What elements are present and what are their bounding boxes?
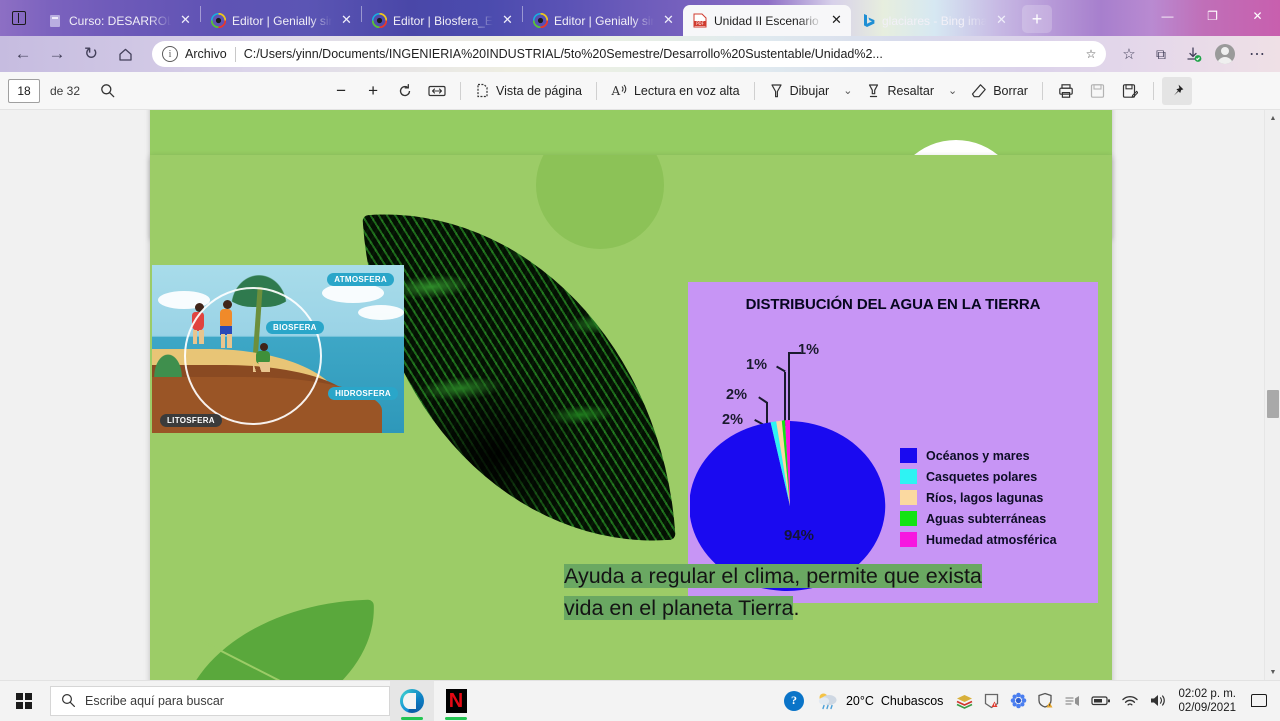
clock-time: 02:02 p. m. <box>1178 687 1236 701</box>
toolbar-divider <box>1042 82 1043 100</box>
tab-actions-menu-button[interactable] <box>0 0 38 36</box>
callout-label-rios: 2% <box>726 387 747 403</box>
fern-shading <box>362 195 675 559</box>
browser-toolbar-right: ☆ ⧉ ⋯ <box>1114 39 1272 69</box>
action-center-icon <box>1251 694 1267 707</box>
leaf-vein <box>200 640 351 680</box>
decorative-leaf-dark <box>176 600 379 680</box>
highlight-options-chevron-down-icon[interactable]: ⌄ <box>942 77 963 105</box>
volume-icon[interactable] <box>1144 681 1172 721</box>
system-tray: ? 20°C Chubascos <box>779 681 1280 721</box>
genially-icon <box>210 13 226 29</box>
label-litosfera: LITOSFERA <box>160 414 222 427</box>
tab-actions-icon <box>12 11 26 25</box>
legend-label: Ríos, lagos lagunas <box>926 491 1043 505</box>
toolbar-divider <box>596 82 597 100</box>
legend-swatch <box>900 490 917 505</box>
tab-close-button[interactable]: ✕ <box>499 12 516 29</box>
chart-title: DISTRIBUCIÓN DEL AGUA EN LA TIERRA <box>688 296 1098 313</box>
legend-swatch <box>900 511 917 526</box>
slide-body-text-line2: vida en el planeta Tierra <box>564 596 793 620</box>
site-info-icon[interactable]: i <box>162 46 178 62</box>
profile-avatar[interactable] <box>1210 39 1240 69</box>
erase-label: Borrar <box>993 84 1028 98</box>
browser-navigation-bar: ← → ↻ i Archivo C:/Users/yinn/Documents/… <box>0 36 1280 72</box>
fit-width-icon[interactable] <box>422 77 452 105</box>
avatar <box>1215 44 1235 64</box>
scroll-down-arrow-icon[interactable]: ▼ <box>1265 664 1280 680</box>
toolbar-divider <box>1153 82 1154 100</box>
pdf-page-18: ATMOSFERA BIOSFERA HIDROSFERA LITOSFERA … <box>150 155 1112 680</box>
zoom-in-button[interactable]: + <box>358 77 388 105</box>
genially-icon <box>371 13 387 29</box>
tab-close-button[interactable]: ✕ <box>338 12 355 29</box>
pdf-viewer-canvas[interactable]: 17 <box>0 110 1280 680</box>
tab-title: Editor | Genially sin <box>232 14 332 28</box>
read-aloud-button[interactable]: A Lectura en voz alta <box>605 77 746 105</box>
save-as-icon[interactable] <box>1115 77 1145 105</box>
leader-line-4a <box>788 352 801 354</box>
page-number-input[interactable]: 18 <box>8 79 40 103</box>
windows-icon <box>16 693 32 709</box>
book-icon <box>47 13 63 29</box>
downloads-icon[interactable] <box>1178 39 1208 69</box>
battery-icon[interactable] <box>1086 681 1116 721</box>
slide-body-text-line1: Ayuda a regular el clima, permite que ex… <box>564 564 982 588</box>
highlight-label: Resaltar <box>887 84 934 98</box>
save-icon[interactable] <box>1083 77 1113 105</box>
fern-photo-leaf-shape <box>362 195 675 559</box>
address-bar[interactable]: i Archivo C:/Users/yinn/Documents/INGENI… <box>152 41 1106 67</box>
browser-tab-1[interactable]: Curso: DESARROLLO ✕ <box>38 5 200 36</box>
netflix-icon: N <box>446 689 467 713</box>
pdf-toolbar: 18 de 32 − + Vista de página A Lectura e… <box>0 72 1280 110</box>
clock-date: 02/09/2021 <box>1178 701 1236 715</box>
weather-condition: Chubascos <box>881 694 944 708</box>
chart-legend: Océanos y mares Casquetes polares Ríos, … <box>900 448 1057 553</box>
taskbar-search-placeholder: Escribe aquí para buscar <box>85 694 224 708</box>
home-button[interactable] <box>110 39 140 69</box>
taskbar-clock[interactable]: 02:02 p. m. 02/09/2021 <box>1172 687 1244 715</box>
leader-line-3b <box>784 372 786 426</box>
callout-label-humedad: 1% <box>798 342 819 358</box>
browser-tab-4[interactable]: Editor | Genially sin ✕ <box>523 5 683 36</box>
callout-label-aguas: 1% <box>746 357 767 373</box>
scrollbar-thumb[interactable] <box>1267 390 1279 418</box>
browser-tab-strip: Curso: DESARROLLO ✕ Editor | Genially si… <box>0 0 1280 36</box>
cloud-shape <box>322 283 384 303</box>
viewer-scrollbar[interactable]: ▲ ▼ <box>1264 110 1280 680</box>
legend-label: Océanos y mares <box>926 449 1030 463</box>
forward-button[interactable]: → <box>42 39 72 69</box>
erase-button[interactable]: Borrar <box>965 77 1034 105</box>
legend-item-oceanos: Océanos y mares <box>900 448 1057 463</box>
taskbar-app-microsoft-edge[interactable] <box>390 681 434 721</box>
grass-shape <box>152 351 184 377</box>
taskbar-search-input[interactable]: Escribe aquí para buscar <box>50 686 390 716</box>
legend-item-casquetes: Casquetes polares <box>900 469 1057 484</box>
legend-label: Aguas subterráneas <box>926 512 1046 526</box>
weather-temperature: 20°C <box>846 694 874 708</box>
page-view-label: Vista de página <box>496 84 582 98</box>
legend-swatch <box>900 448 917 463</box>
favorites-icon[interactable]: ☆ <box>1114 39 1144 69</box>
legend-swatch <box>900 469 917 484</box>
draw-button[interactable]: Dibujar <box>763 77 836 105</box>
print-icon[interactable] <box>1051 77 1081 105</box>
browser-tab-3[interactable]: Editor | Biosfera_Ecs ✕ <box>362 5 522 36</box>
label-hidrosfera: HIDROSFERA <box>328 387 398 400</box>
legend-item-humedad: Humedad atmosférica <box>900 532 1057 547</box>
browser-tab-5-active[interactable]: PDF Unidad II Escenario ✕ <box>683 5 851 36</box>
pin-icon[interactable] <box>1162 77 1192 105</box>
tab-close-button[interactable]: ✕ <box>828 12 845 29</box>
slide-body-text-period: . <box>793 596 799 620</box>
svg-text:PDF: PDF <box>696 21 704 26</box>
legend-item-aguas: Aguas subterráneas <box>900 511 1057 526</box>
bing-icon <box>860 13 876 29</box>
window-controls: — ❐ ✕ <box>1145 0 1280 36</box>
slide-body-text[interactable]: Ayuda a regular el clima, permite que ex… <box>564 560 1110 624</box>
page-view-button[interactable]: Vista de página <box>469 77 588 105</box>
collections-icon[interactable]: ⧉ <box>1146 39 1176 69</box>
start-button[interactable] <box>0 681 48 721</box>
toolbar-divider <box>754 82 755 100</box>
edge-icon <box>400 689 424 713</box>
genially-icon <box>532 13 548 29</box>
network-icon[interactable] <box>1059 681 1086 721</box>
back-button[interactable]: ← <box>8 39 38 69</box>
taskbar-app-netflix[interactable]: N <box>434 681 478 721</box>
legend-item-rios: Ríos, lagos lagunas <box>900 490 1057 505</box>
warning-icon[interactable] <box>978 681 1005 721</box>
pie-main-value-label: 94% <box>784 527 814 544</box>
legend-label: Humedad atmosférica <box>926 533 1057 547</box>
cloud-shape <box>358 305 404 320</box>
scroll-up-arrow-icon[interactable]: ▲ <box>1265 110 1280 126</box>
label-atmosfera: ATMOSFERA <box>327 273 394 286</box>
wifi-icon[interactable] <box>1116 681 1144 721</box>
tab-close-button[interactable]: ✕ <box>660 12 677 29</box>
zoom-out-button[interactable]: − <box>326 77 356 105</box>
page-count-label: de 32 <box>50 84 80 98</box>
legend-swatch <box>900 532 917 547</box>
address-url-text: C:/Users/yinn/Documents/INGENIERIA%20IND… <box>244 47 1080 61</box>
pdf-icon: PDF <box>692 13 708 29</box>
tab-title: Editor | Genially sin <box>554 14 654 28</box>
highlight-button[interactable]: Resaltar <box>860 77 940 105</box>
toolbar-divider <box>460 82 461 100</box>
rain-cloud-icon <box>817 692 839 710</box>
tab-close-button[interactable]: ✕ <box>177 12 194 29</box>
new-tab-button[interactable]: + <box>1022 5 1052 33</box>
read-aloud-label: Lectura en voz alta <box>634 84 740 98</box>
help-icon: ? <box>784 691 804 711</box>
security-shield-icon[interactable] <box>1032 681 1059 721</box>
browser-tab-6[interactable]: glaciares - Bing ima ✕ <box>851 5 1016 36</box>
tab-title: Editor | Biosfera_Ecs <box>393 14 493 28</box>
legend-label: Casquetes polares <box>926 470 1037 484</box>
leader-line-4b <box>788 352 790 428</box>
add-favorite-icon[interactable]: ☆ <box>1080 47 1102 61</box>
label-biosfera: BIOSFERA <box>266 321 324 334</box>
windows-taskbar: Escribe aquí para buscar N ? 20°C Chubas… <box>0 680 1280 720</box>
minimize-button[interactable]: — <box>1145 0 1190 32</box>
rotate-icon[interactable] <box>390 77 420 105</box>
close-window-button[interactable]: ✕ <box>1235 0 1280 32</box>
help-tip-button[interactable]: ? <box>779 681 809 721</box>
biosphere-circle-outline <box>184 287 322 425</box>
tab-title: Curso: DESARROLLO <box>69 14 171 28</box>
tab-title: glaciares - Bing ima <box>882 14 987 28</box>
tab-close-button[interactable]: ✕ <box>993 12 1010 29</box>
browser-tab-2[interactable]: Editor | Genially sin ✕ <box>201 5 361 36</box>
water-distribution-chart: DISTRIBUCIÓN DEL AGUA EN LA TIERRA 2% 2%… <box>688 282 1098 603</box>
search-button[interactable] <box>92 77 122 105</box>
action-center-button[interactable] <box>1244 694 1274 707</box>
svg-text:A: A <box>611 84 621 98</box>
draw-label: Dibujar <box>790 84 830 98</box>
maximize-button[interactable]: ❐ <box>1190 0 1235 32</box>
tab-title: Unidad II Escenario <box>714 14 822 28</box>
address-scheme-label: Archivo <box>185 47 227 61</box>
browser-settings-menu[interactable]: ⋯ <box>1242 39 1272 69</box>
blue-flower-icon[interactable] <box>1005 681 1032 721</box>
biosfera-diagram-image: ATMOSFERA BIOSFERA HIDROSFERA LITOSFERA <box>152 265 404 433</box>
draw-options-chevron-down-icon[interactable]: ⌄ <box>837 77 858 105</box>
refresh-button[interactable]: ↻ <box>76 39 106 69</box>
taskbar-weather-widget[interactable]: 20°C Chubascos <box>809 692 951 710</box>
search-icon <box>61 693 76 708</box>
layers-icon[interactable] <box>951 681 978 721</box>
address-divider <box>235 47 236 62</box>
